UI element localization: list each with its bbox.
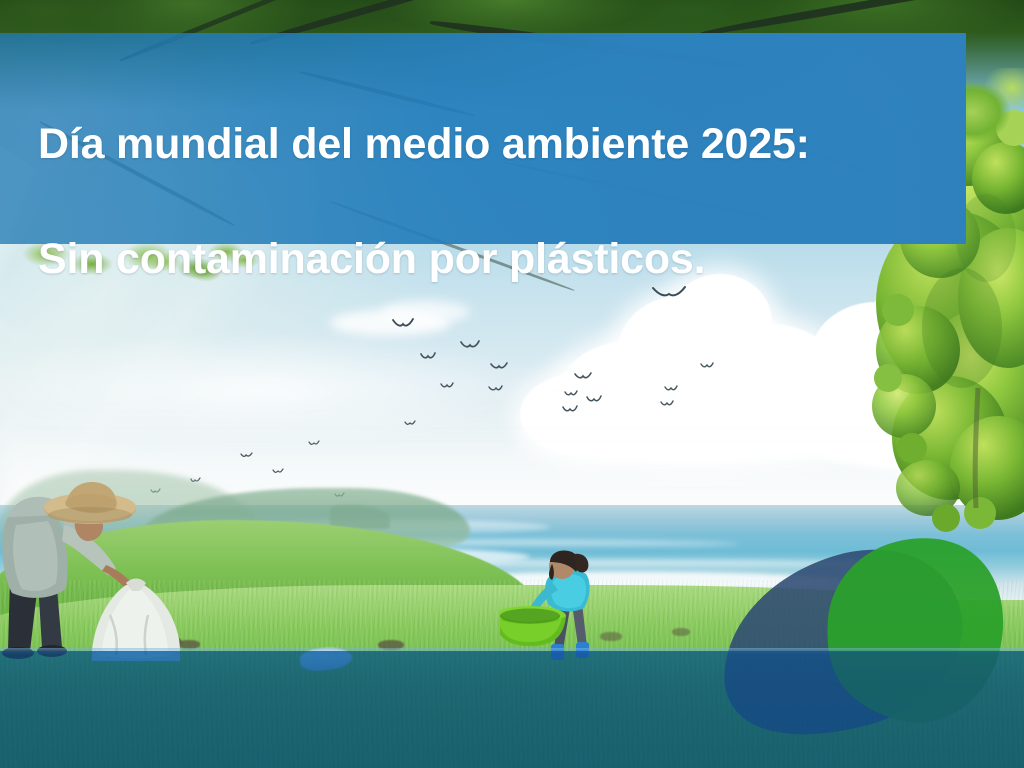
- bird-icon: [272, 468, 284, 474]
- poster-canvas: Día mundial del medio ambiente 2025: Sin…: [0, 0, 1024, 768]
- banner-title-line-2: Sin contaminación por plásticos.: [38, 231, 946, 288]
- bird-icon: [562, 405, 578, 413]
- bird-icon: [240, 452, 253, 458]
- ground-debris: [672, 628, 690, 636]
- banner-title-line-1: Día mundial del medio ambiente 2025:: [38, 116, 946, 173]
- bird-icon: [440, 382, 454, 389]
- water-overlay-tint: [0, 651, 1024, 768]
- title-banner: Día mundial del medio ambiente 2025: Sin…: [0, 33, 966, 244]
- banner-text-block: Día mundial del medio ambiente 2025: Sin…: [38, 59, 946, 345]
- bird-icon: [700, 362, 714, 369]
- bird-icon: [564, 390, 578, 397]
- person-man-with-bag: [0, 465, 200, 665]
- bird-icon: [420, 352, 436, 360]
- person-woman-with-basin: [500, 540, 620, 665]
- bird-icon: [308, 440, 320, 446]
- bird-icon: [404, 420, 416, 426]
- bird-icon: [574, 372, 592, 380]
- bird-icon: [490, 362, 508, 370]
- bird-icon: [664, 385, 678, 392]
- bird-icon: [586, 395, 602, 403]
- bird-icon: [488, 385, 503, 392]
- bird-icon: [660, 400, 674, 407]
